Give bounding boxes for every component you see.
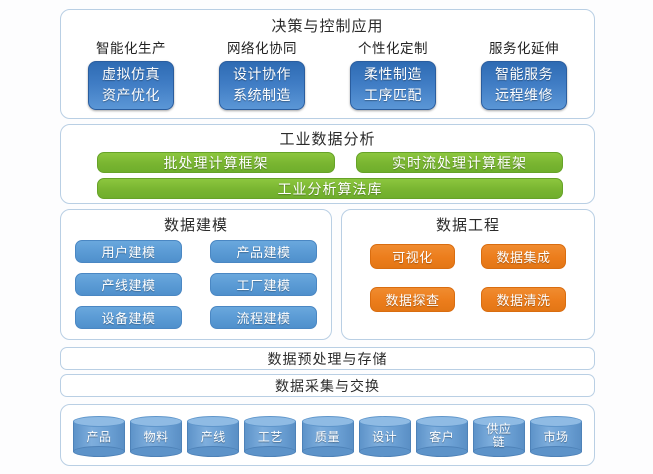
data-engineering-title: 数据工程 bbox=[342, 218, 594, 233]
application-chip-service-extension[interactable]: 智能服务 远程维修 bbox=[481, 61, 567, 110]
cylinder-label: 设计 bbox=[362, 431, 408, 444]
analysis-algorithm-library-bar[interactable]: 工业分析算法库 bbox=[97, 178, 563, 199]
chip-line-1: 智能服务 bbox=[495, 64, 553, 85]
cylinder-top-icon bbox=[73, 416, 125, 427]
application-columns: 智能化生产 虚拟仿真 资产优化 网络化协同 设计协作 系统制造 个性化定制 柔性… bbox=[75, 42, 580, 110]
modelling-chip-user[interactable]: 用户建模 bbox=[75, 240, 182, 263]
cylinder-label: 质量 bbox=[305, 431, 351, 444]
cylinder-top-icon bbox=[130, 416, 182, 427]
diagram-canvas: 决策与控制应用 智能化生产 虚拟仿真 资产优化 网络化协同 设计协作 系统制造 … bbox=[0, 0, 653, 474]
cylinder-bottom-icon bbox=[302, 446, 354, 457]
column-label: 个性化定制 bbox=[358, 42, 428, 56]
chip-line-2: 资产优化 bbox=[102, 85, 160, 106]
cylinder-label: 物料 bbox=[133, 431, 179, 444]
application-column-networked-collaboration: 网络化协同 设计协作 系统制造 bbox=[206, 42, 318, 110]
data-source-quality[interactable]: 质量 bbox=[302, 416, 354, 456]
data-source-craft[interactable]: 工艺 bbox=[244, 416, 296, 456]
application-column-service-extension: 服务化延伸 智能服务 远程维修 bbox=[468, 42, 580, 110]
chip-line-2: 远程维修 bbox=[495, 85, 553, 106]
cylinder-bottom-icon bbox=[73, 446, 125, 457]
application-chip-smart-production[interactable]: 虚拟仿真 资产优化 bbox=[88, 61, 174, 110]
data-source-cylinder-row: 产品 物料 产线 工艺 bbox=[73, 416, 582, 456]
application-chip-networked-collaboration[interactable]: 设计协作 系统制造 bbox=[219, 61, 305, 110]
modelling-chip-process[interactable]: 流程建模 bbox=[210, 306, 317, 329]
decision-control-panel: 决策与控制应用 智能化生产 虚拟仿真 资产优化 网络化协同 设计协作 系统制造 … bbox=[60, 9, 595, 119]
chip-line-2: 系统制造 bbox=[233, 85, 291, 106]
application-column-personalized-customization: 个性化定制 柔性制造 工序匹配 bbox=[337, 42, 449, 110]
engineering-chip-visualization[interactable]: 可视化 bbox=[370, 244, 455, 269]
stream-computing-framework-bar[interactable]: 实时流处理计算框架 bbox=[356, 152, 563, 173]
data-source-market[interactable]: 市场 bbox=[530, 416, 582, 456]
column-label: 网络化协同 bbox=[227, 42, 297, 56]
data-source-supply-chain[interactable]: 供应链 bbox=[473, 416, 525, 456]
data-sources-panel: 产品 物料 产线 工艺 bbox=[60, 404, 595, 466]
decision-control-title: 决策与控制应用 bbox=[61, 19, 594, 34]
data-modelling-grid: 用户建模 产品建模 产线建模 工厂建模 设备建模 流程建模 bbox=[75, 240, 317, 329]
cylinder-top-icon bbox=[187, 416, 239, 427]
chip-line-1: 柔性制造 bbox=[364, 64, 422, 85]
data-source-product[interactable]: 产品 bbox=[73, 416, 125, 456]
cylinder-label: 工艺 bbox=[247, 431, 293, 444]
chip-line-2: 工序匹配 bbox=[364, 85, 422, 106]
application-chip-personalized-customization[interactable]: 柔性制造 工序匹配 bbox=[350, 61, 436, 110]
data-source-material[interactable]: 物料 bbox=[130, 416, 182, 456]
modelling-chip-factory[interactable]: 工厂建模 bbox=[210, 273, 317, 296]
data-engineering-grid: 可视化 数据集成 数据探查 数据清洗 bbox=[370, 244, 566, 312]
cylinder-label: 供应链 bbox=[484, 423, 514, 449]
cylinder-top-icon bbox=[302, 416, 354, 427]
data-collection-exchange-bar[interactable]: 数据采集与交换 bbox=[60, 374, 595, 397]
data-engineering-panel: 数据工程 可视化 数据集成 数据探查 数据清洗 bbox=[341, 209, 595, 340]
engineering-chip-data-cleaning[interactable]: 数据清洗 bbox=[481, 287, 566, 312]
modelling-chip-production-line[interactable]: 产线建模 bbox=[75, 273, 182, 296]
data-preprocessing-storage-bar[interactable]: 数据预处理与存储 bbox=[60, 347, 595, 370]
cylinder-label: 产线 bbox=[190, 431, 236, 444]
cylinder-bottom-icon bbox=[187, 446, 239, 457]
cylinder-label: 客户 bbox=[419, 431, 465, 444]
cylinder-label: 市场 bbox=[533, 431, 579, 444]
cylinder-top-icon bbox=[244, 416, 296, 427]
application-column-smart-production: 智能化生产 虚拟仿真 资产优化 bbox=[75, 42, 187, 110]
cylinder-bottom-icon bbox=[530, 446, 582, 457]
data-source-design[interactable]: 设计 bbox=[359, 416, 411, 456]
chip-line-1: 虚拟仿真 bbox=[102, 64, 160, 85]
data-source-production-line[interactable]: 产线 bbox=[187, 416, 239, 456]
industrial-data-analysis-title: 工业数据分析 bbox=[61, 132, 594, 147]
cylinder-bottom-icon bbox=[244, 446, 296, 457]
column-label: 服务化延伸 bbox=[489, 42, 559, 56]
column-label: 智能化生产 bbox=[96, 42, 166, 56]
modelling-chip-product[interactable]: 产品建模 bbox=[210, 240, 317, 263]
industrial-data-analysis-panel: 工业数据分析 批处理计算框架 实时流处理计算框架 工业分析算法库 bbox=[60, 124, 595, 204]
data-modelling-panel: 数据建模 用户建模 产品建模 产线建模 工厂建模 设备建模 流程建模 bbox=[60, 209, 332, 340]
cylinder-bottom-icon bbox=[416, 446, 468, 457]
engineering-chip-data-exploration[interactable]: 数据探查 bbox=[370, 287, 455, 312]
engineering-chip-data-integration[interactable]: 数据集成 bbox=[481, 244, 566, 269]
cylinder-bottom-icon bbox=[130, 446, 182, 457]
cylinder-top-icon bbox=[530, 416, 582, 427]
batch-computing-framework-bar[interactable]: 批处理计算框架 bbox=[97, 152, 335, 173]
data-modelling-title: 数据建模 bbox=[61, 218, 331, 233]
cylinder-top-icon bbox=[359, 416, 411, 427]
modelling-chip-equipment[interactable]: 设备建模 bbox=[75, 306, 182, 329]
data-source-customer[interactable]: 客户 bbox=[416, 416, 468, 456]
cylinder-top-icon bbox=[416, 416, 468, 427]
cylinder-label: 产品 bbox=[76, 431, 122, 444]
cylinder-bottom-icon bbox=[359, 446, 411, 457]
chip-line-1: 设计协作 bbox=[233, 64, 291, 85]
